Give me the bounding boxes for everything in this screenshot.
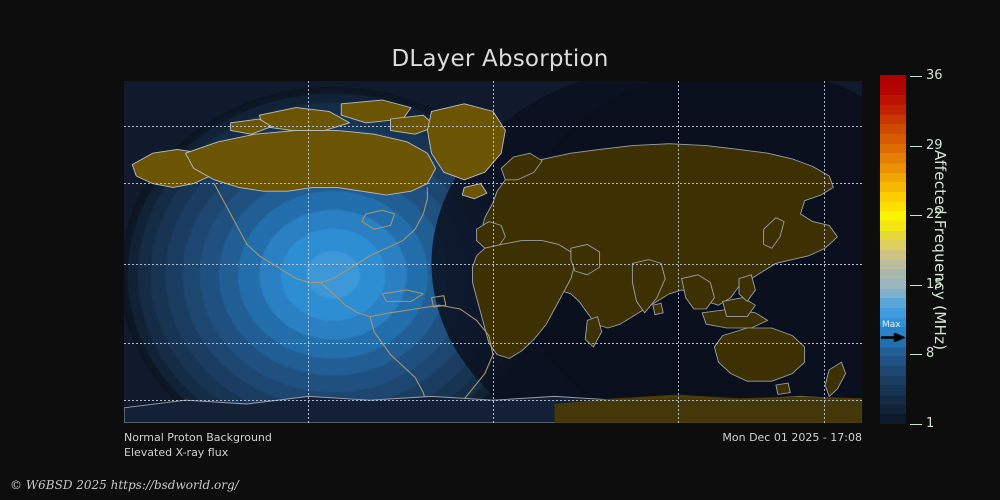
colorbar-segment (880, 278, 906, 288)
copyright-notice: © W6BSD 2025 https://bsdworld.org/ (10, 478, 239, 492)
colorbar-segment (880, 104, 906, 114)
colorbar-tick (910, 354, 922, 355)
colorbar-tick (910, 146, 922, 147)
colorbar-segment (880, 172, 906, 182)
world-absorption-map[interactable] (124, 81, 862, 423)
colorbar-segment (880, 85, 906, 95)
gridline-lon-60w (308, 81, 309, 423)
gridline-lon-60e (678, 81, 679, 423)
colorbar-segment (880, 240, 906, 250)
colorbar-segment (880, 143, 906, 153)
colorbar-segment (880, 414, 906, 424)
note-proton-background: Normal Proton Background (124, 430, 272, 445)
colorbar-segment (880, 124, 906, 134)
colorbar-segment (880, 211, 906, 221)
colorbar-segment (880, 133, 906, 143)
note-xray-flux: Elevated X-ray flux (124, 445, 272, 460)
colorbar-segment (880, 249, 906, 259)
colorbar-tick (910, 215, 922, 216)
colorbar-segment (880, 375, 906, 385)
colorbar-segment (880, 259, 906, 269)
colorbar-segment (880, 269, 906, 279)
colorbar-segment (880, 385, 906, 395)
colorbar-segment (880, 95, 906, 105)
colorbar-segment (880, 182, 906, 192)
colorbar-segment (880, 307, 906, 317)
colorbar-axis-title: Affected Frequency (MHz) (929, 76, 951, 424)
colorbar-segment (880, 356, 906, 366)
colorbar-segment (880, 230, 906, 240)
colorbar-segment (880, 191, 906, 201)
colorbar-segment (880, 288, 906, 298)
colorbar-segment (880, 404, 906, 414)
max-arrow-icon (881, 333, 905, 342)
colorbar-segment (880, 346, 906, 356)
colorbar-segment (880, 365, 906, 375)
colorbar-segment (880, 220, 906, 230)
colorbar-max-marker: Max (880, 323, 906, 345)
status-notes: Normal Proton Background Elevated X-ray … (124, 430, 272, 460)
colorbar[interactable]: Max 3629221581 (880, 76, 906, 424)
colorbar-segment (880, 394, 906, 404)
colorbar-tick (910, 76, 922, 77)
colorbar-tick (910, 285, 922, 286)
colorbar-tick (910, 424, 922, 425)
dlayer-absorption-page: DLayer Absorption (0, 0, 1000, 500)
colorbar-segment (880, 75, 906, 85)
page-title: DLayer Absorption (0, 46, 1000, 72)
colorbar-segment (880, 162, 906, 172)
gridline-lon-120e (824, 81, 825, 423)
colorbar-segment (880, 201, 906, 211)
timestamp: Mon Dec 01 2025 - 17:08 (722, 431, 862, 444)
colorbar-gradient (880, 76, 906, 424)
gridline-lon-0 (493, 81, 494, 423)
colorbar-segment (880, 298, 906, 308)
colorbar-segment (880, 153, 906, 163)
colorbar-max-label: Max (882, 321, 901, 330)
colorbar-segment (880, 114, 906, 124)
